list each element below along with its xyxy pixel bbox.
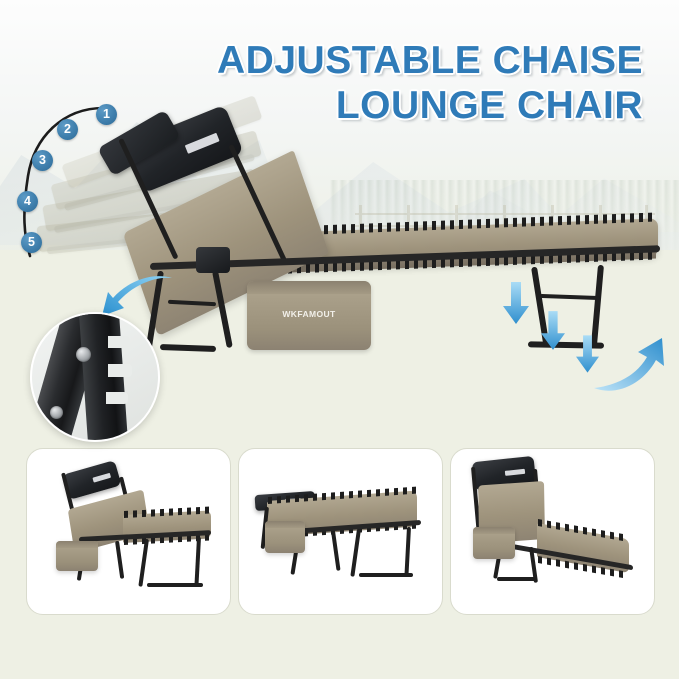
detail-tube-ratchet bbox=[78, 312, 130, 442]
title-line-1: ADJUSTABLE CHAISE bbox=[0, 38, 643, 83]
mode-card-recline[interactable]: RECLINE bbox=[26, 448, 231, 615]
side-storage-pouch: WKFAMOUT bbox=[247, 281, 371, 350]
situp-illustration bbox=[451, 449, 654, 614]
headrest-logo-patch bbox=[185, 133, 220, 154]
front-leg-foot bbox=[160, 344, 216, 352]
motion-arrow-1 bbox=[503, 282, 529, 324]
detail-notch-1 bbox=[108, 336, 130, 348]
title-line-2: LOUNGE CHAIR bbox=[0, 83, 643, 128]
position-marker-5[interactable]: 5 bbox=[21, 232, 42, 253]
detail-notch-2 bbox=[108, 364, 132, 377]
mode-card-layflat[interactable]: LAYFLAT bbox=[238, 448, 443, 615]
motion-arrow-2 bbox=[541, 311, 565, 350]
position-marker-4[interactable]: 4 bbox=[17, 191, 38, 212]
page-title: ADJUSTABLE CHAISE LOUNGE CHAIR bbox=[0, 38, 679, 128]
mode-cards: RECLINE LAYFLAT bbox=[0, 448, 679, 679]
motion-arrow-curved bbox=[590, 330, 670, 396]
position-marker-3[interactable]: 3 bbox=[32, 150, 53, 171]
rear-leg-brace bbox=[540, 294, 600, 300]
mode-card-situp[interactable]: SIT UP bbox=[450, 448, 655, 615]
product-infographic: ADJUSTABLE CHAISE LOUNGE CHAIR bbox=[0, 0, 679, 679]
detail-bolt-upper bbox=[76, 347, 91, 362]
layflat-illustration bbox=[239, 449, 442, 614]
pouch-brand-text: WKFAMOUT bbox=[247, 309, 371, 319]
hinge-detail-callout bbox=[30, 312, 160, 442]
detail-bolt-lower bbox=[50, 406, 63, 419]
hinge-bracket bbox=[196, 247, 230, 273]
detail-notch-3 bbox=[106, 392, 128, 404]
pouch-lid bbox=[247, 281, 371, 294]
recline-illustration bbox=[27, 449, 230, 614]
